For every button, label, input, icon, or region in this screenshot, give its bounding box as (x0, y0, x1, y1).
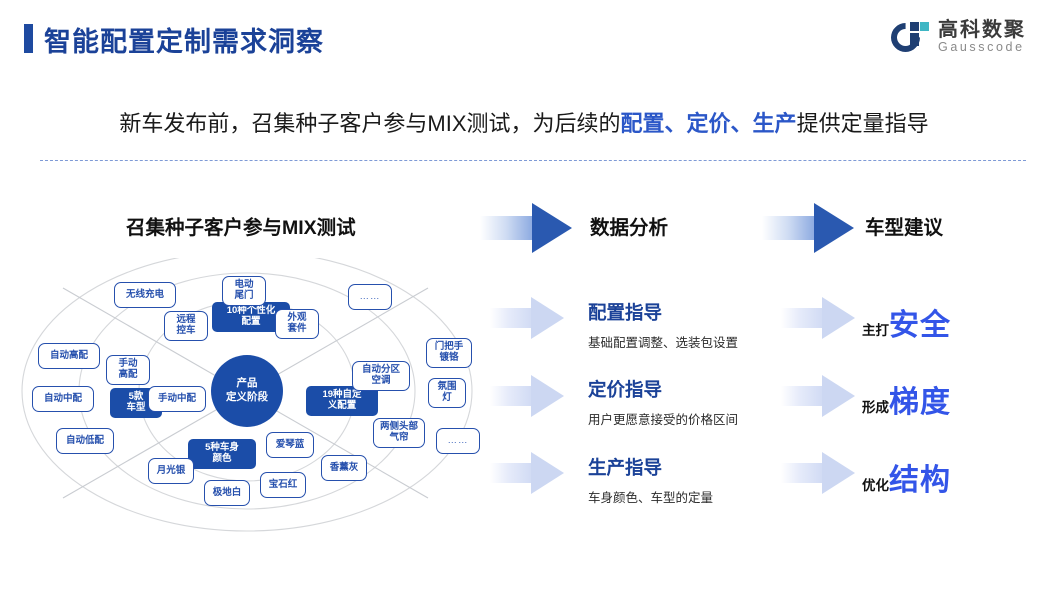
mindmap-core-node: 产品 定义阶段 (211, 355, 283, 427)
feature-node-ellipsis-2[interactable]: …… (436, 428, 480, 454)
analysis-item-3-sub: 车身颜色、车型的定量 (588, 487, 713, 506)
category-node-body-colors[interactable]: 5种车身 颜色 (188, 439, 256, 469)
color-node-ruby-red[interactable]: 宝石红 (260, 472, 306, 498)
recommendation-item-1[interactable]: 主打 安全 (862, 300, 951, 344)
color-node-incense-grey[interactable]: 香薰灰 (321, 455, 367, 481)
mix-test-mindmap: 产品 定义阶段 10种个性化 配置 19种自定 义配置 5款 车型 5种车身 颜… (18, 258, 488, 548)
color-node-moonlight-silver[interactable]: 月光银 (148, 458, 194, 484)
recommendation-item-3-keyword: 结构 (889, 455, 951, 499)
subtitle-part1: 新车发布前，召集种子客户参与MIX测试，为后续的 (119, 111, 620, 136)
recommendation-item-3-prefix: 优化 (862, 474, 889, 494)
brand-logo: 高科数聚 Gausscode (891, 18, 1026, 56)
feature-node-exterior-kit[interactable]: 外观 套件 (275, 309, 319, 339)
column-header-right: 车型建议 (865, 211, 943, 240)
slide-canvas: 智能配置定制需求洞察 高科数聚 Gausscode 新车发布前，召集种子客户参与… (0, 0, 1048, 589)
trim-node-manual-high[interactable]: 手动 高配 (106, 355, 150, 385)
flow-arrow-icon-2 (762, 203, 854, 253)
recommendation-item-2[interactable]: 形成 梯度 (862, 377, 951, 421)
feature-node-wireless-charging[interactable]: 无线充电 (114, 282, 176, 308)
feature-node-ambient-light[interactable]: 氛围 灯 (428, 378, 466, 408)
trim-node-manual-mid[interactable]: 手动中配 (148, 386, 206, 412)
feature-node-dual-zone-ac[interactable]: 自动分区 空调 (352, 361, 410, 391)
trim-node-auto-low[interactable]: 自动低配 (56, 428, 114, 454)
row-arrow-icon-r1 (781, 297, 855, 339)
logo-name-cn: 高科数聚 (938, 20, 1026, 41)
color-node-polar-white[interactable]: 极地白 (204, 480, 250, 506)
subtitle: 新车发布前，召集种子客户参与MIX测试，为后续的配置、定价、生产提供定量指导 (0, 106, 1048, 138)
analysis-item-2-sub: 用户更愿意接受的价格区间 (588, 409, 738, 428)
row-arrow-icon-r3 (781, 452, 855, 494)
analysis-item-2[interactable]: 定价指导 用户更愿意接受的价格区间 (588, 376, 738, 428)
recommendation-item-1-keyword: 安全 (889, 300, 951, 344)
row-arrow-icon-l2 (490, 375, 564, 417)
flow-arrow-icon-1 (480, 203, 572, 253)
column-header-middle: 数据分析 (590, 211, 668, 240)
subtitle-highlight: 配置、定价、生产 (621, 111, 797, 136)
recommendation-item-3[interactable]: 优化 结构 (862, 455, 951, 499)
analysis-item-3[interactable]: 生产指导 车身颜色、车型的定量 (588, 454, 713, 506)
trim-node-auto-high[interactable]: 自动高配 (38, 343, 100, 369)
analysis-item-1[interactable]: 配置指导 基础配置调整、选装包设置 (588, 299, 738, 351)
logo-name-en: Gausscode (938, 41, 1026, 54)
trim-node-auto-mid[interactable]: 自动中配 (32, 386, 94, 412)
row-arrow-icon-l3 (490, 452, 564, 494)
feature-node-ellipsis-1[interactable]: …… (348, 284, 392, 310)
feature-node-power-tailgate[interactable]: 电动 尾门 (222, 276, 266, 306)
recommendation-item-1-prefix: 主打 (862, 319, 889, 339)
recommendation-item-2-prefix: 形成 (862, 396, 889, 416)
column-header-left: 召集种子客户参与MIX测试 (126, 211, 356, 240)
color-node-aegean-blue[interactable]: 爱琴蓝 (266, 432, 314, 458)
feature-node-remote-control[interactable]: 远程 控车 (164, 311, 208, 341)
title-accent-bar (24, 24, 33, 53)
logo-glyph-icon (891, 18, 929, 56)
section-divider (40, 160, 1026, 161)
analysis-item-3-title: 生产指导 (588, 454, 713, 480)
row-arrow-icon-l1 (490, 297, 564, 339)
row-arrow-icon-r2 (781, 375, 855, 417)
analysis-item-2-title: 定价指导 (588, 376, 738, 402)
analysis-item-1-sub: 基础配置调整、选装包设置 (588, 332, 738, 351)
subtitle-part2: 提供定量指导 (797, 111, 929, 136)
page-title: 智能配置定制需求洞察 (44, 20, 324, 59)
analysis-item-1-title: 配置指导 (588, 299, 738, 325)
recommendation-item-2-keyword: 梯度 (889, 377, 951, 421)
feature-node-chrome-handle[interactable]: 门把手 镀铬 (426, 338, 472, 368)
feature-node-side-airbags[interactable]: 两侧头部 气帘 (373, 418, 425, 448)
